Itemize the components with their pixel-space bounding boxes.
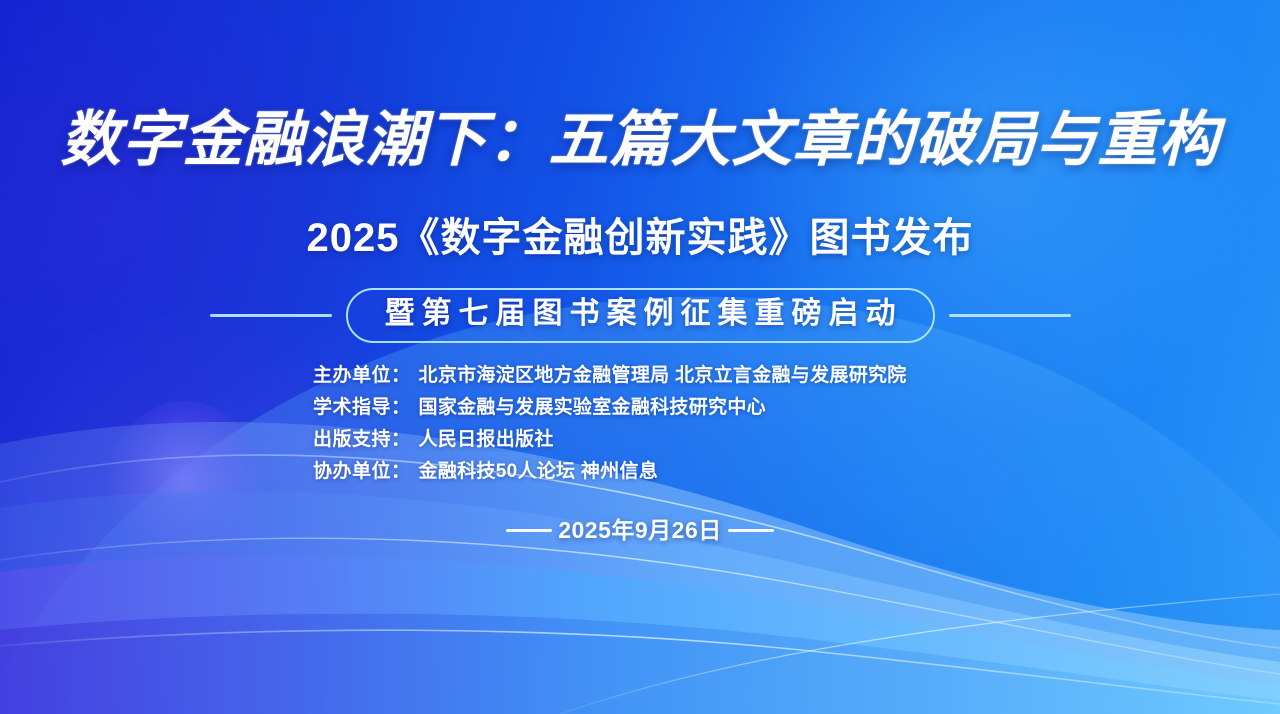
banner-rule-right <box>949 314 1071 317</box>
organizer-value: 北京市海淀区地方金融管理局 北京立言金融与发展研究院 <box>419 360 907 392</box>
banner-row: 暨第七届图书案例征集重磅启动 <box>0 288 1280 343</box>
poster-content: 数字金融浪潮下：五篇大文章的破局与重构 2025《数字金融创新实践》图书发布 暨… <box>0 0 1280 714</box>
organizer-label: 主办单位： <box>313 360 411 392</box>
organizer-row: 出版支持： 人民日报出版社 <box>313 424 907 456</box>
organizer-row: 协办单位： 金融科技50人论坛 神州信息 <box>313 456 907 488</box>
poster-subtitle: 2025《数字金融创新实践》图书发布 <box>0 212 1280 264</box>
organizer-row: 主办单位： 北京市海淀区地方金融管理局 北京立言金融与发展研究院 <box>313 360 907 392</box>
organizer-label: 协办单位： <box>313 456 411 488</box>
organizer-value: 国家金融与发展实验室金融科技研究中心 <box>419 392 766 424</box>
event-date-row: 2025年9月26日 <box>0 515 1280 545</box>
organizer-list: 主办单位： 北京市海淀区地方金融管理局 北京立言金融与发展研究院 学术指导： 国… <box>313 360 907 488</box>
banner-rule-left <box>210 314 332 317</box>
date-rule-right <box>728 529 774 532</box>
event-date: 2025年9月26日 <box>558 515 722 545</box>
organizer-label: 学术指导： <box>313 392 411 424</box>
event-poster: 数字金融浪潮下：五篇大文章的破局与重构 2025《数字金融创新实践》图书发布 暨… <box>0 0 1280 714</box>
organizer-row: 学术指导： 国家金融与发展实验室金融科技研究中心 <box>313 392 907 424</box>
page-title: 数字金融浪潮下：五篇大文章的破局与重构 <box>0 103 1280 177</box>
date-rule-left <box>506 529 552 532</box>
banner-badge: 暨第七届图书案例征集重磅启动 <box>346 288 935 343</box>
organizer-value: 人民日报出版社 <box>419 424 554 456</box>
organizer-value: 金融科技50人论坛 神州信息 <box>419 456 659 488</box>
organizer-label: 出版支持： <box>313 424 411 456</box>
